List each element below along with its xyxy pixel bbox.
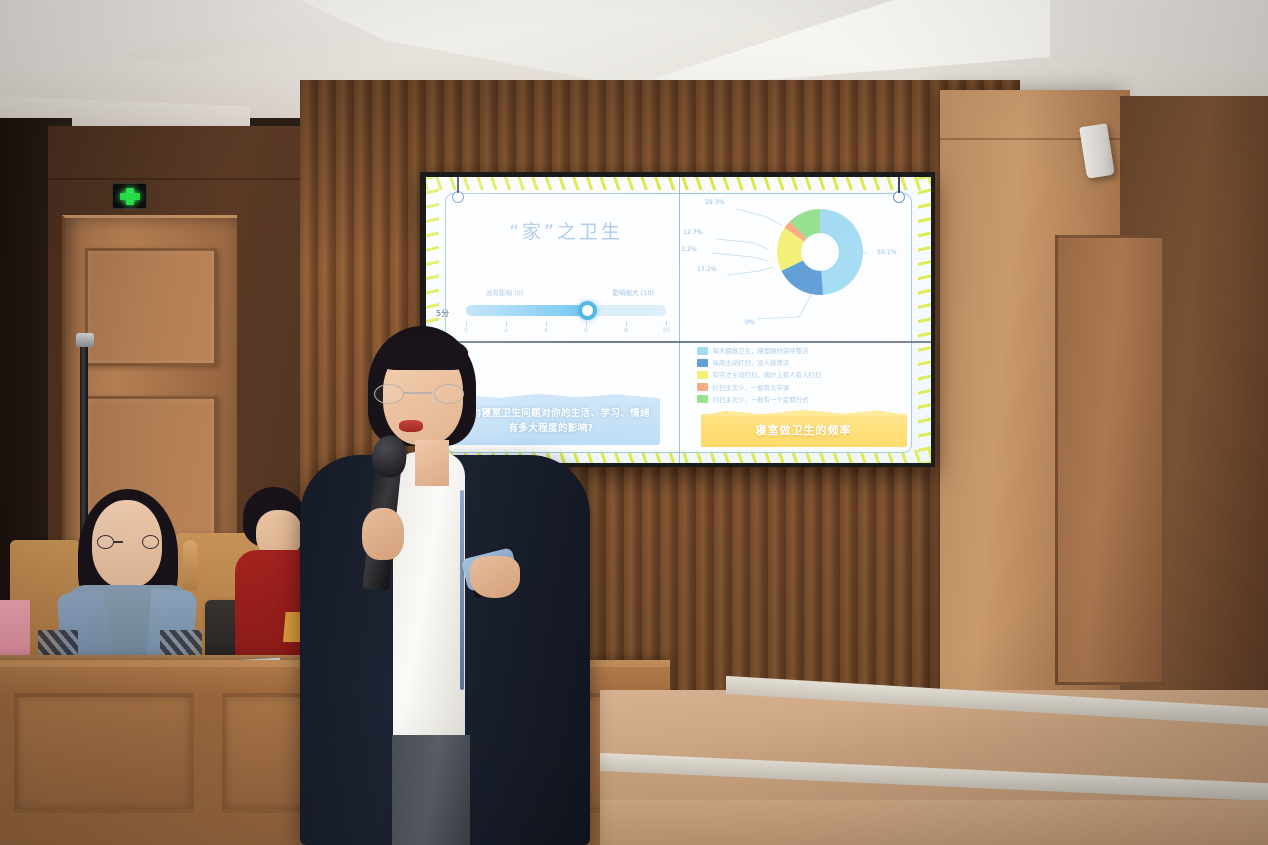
question-banner-text: 你认为寝室卫生问题对你的生活、学习、情绪有多大程度的影响? (448, 406, 654, 436)
fringe (380, 336, 468, 370)
donut-pct-label-4: 0% (745, 319, 755, 326)
slider-tick-scale: 0 2 4 6 8 10 (466, 321, 666, 337)
donut-pct-label-2: 3.2% (681, 246, 697, 253)
exit-sign (112, 183, 147, 209)
slide-right-panel: 19.3%12.7%3.2%17.2%0%50.1% 每天都做卫生，寝室随时保持… (679, 177, 932, 463)
slide-title: “家”之卫生 (466, 217, 666, 244)
chair-finial (183, 540, 197, 590)
legend-swatch-icon (697, 395, 708, 403)
slider-fill (466, 305, 590, 316)
legend-label: 打扫主次少，一般有大学课 (713, 383, 790, 392)
hand-holding-phone (470, 556, 520, 598)
glasses-icon (97, 535, 159, 551)
presentation-scene: “家”之卫生 没有影响 (0) 影响很大 (10) 5分 (0, 0, 1268, 845)
hand-holding-microphone (362, 508, 404, 560)
legend-row: 每周主动打扫，没人挑清洁 (697, 358, 927, 367)
glasses-icon (372, 384, 468, 404)
legend-label: 打扫主次少，一般有一个定期行式 (713, 395, 809, 404)
legend-row: 每天都做卫生，寝室随时保持整洁 (697, 346, 927, 355)
slider-knob[interactable] (578, 301, 597, 320)
chart-legend: 每天都做卫生，寝室随时保持整洁每周主动打扫，没人挑清洁有空才主动打扫，偶尔上有人… (697, 346, 927, 407)
slider-min-label: 没有影响 (0) (486, 287, 523, 297)
slider-tick-2: 4 (544, 327, 548, 334)
donut-pct-label-1: 12.7% (683, 229, 703, 236)
impact-slider-widget[interactable]: 没有影响 (0) 影响很大 (10) 5分 0 2 (444, 287, 676, 337)
donut-pct-label-0: 19.3% (705, 199, 725, 206)
donut-pct-label-5: 50.1% (877, 249, 897, 256)
legend-row: 有空才主动打扫，偶尔上有人有人打扫 (697, 370, 927, 379)
white-turtleneck (393, 452, 465, 742)
door-right[interactable] (1055, 235, 1165, 685)
slider-tick-3: 6 (584, 327, 588, 334)
slide-canvas: “家”之卫生 没有影响 (0) 影响很大 (10) 5分 (426, 177, 931, 463)
slider-tick-4: 8 (624, 327, 628, 334)
slider-tick-0: 0 (464, 327, 468, 334)
mouth (399, 420, 423, 432)
neck (415, 440, 449, 486)
legend-row: 打扫主次少，一般有大学课 (697, 383, 927, 392)
wall-display-screen[interactable]: “家”之卫生 没有影响 (0) 影响很大 (10) 5分 (420, 172, 935, 467)
frequency-banner-text: 寝室做卫生的频率 (756, 424, 852, 437)
legend-swatch-icon (697, 371, 708, 379)
floor-lower-level (600, 800, 1268, 845)
slider-tick-5: 10 (662, 327, 670, 334)
legend-swatch-icon (697, 383, 708, 391)
grey-jeans (392, 735, 470, 845)
legend-swatch-icon (697, 359, 708, 367)
legend-label: 有空才主动打扫，偶尔上有人有人打扫 (713, 370, 822, 379)
slider-tick-1: 2 (504, 327, 508, 334)
slider-track[interactable] (466, 305, 666, 316)
coat-drawstring (460, 490, 464, 690)
frequency-banner: 寝室做卫生的频率 (701, 414, 907, 447)
legend-swatch-icon (697, 347, 708, 355)
donut-chart-area: 19.3%12.7%3.2%17.2%0%50.1% (681, 191, 913, 339)
legend-label: 每周主动打扫，没人挑清洁 (713, 358, 790, 367)
donut-chart (777, 209, 863, 295)
donut-pct-label-3: 17.2% (697, 266, 717, 273)
slider-value-label: 5分 (436, 308, 449, 319)
green-cross-icon (120, 188, 140, 205)
legend-label: 每天都做卫生，寝室随时保持整洁 (713, 346, 809, 355)
legend-row: 打扫主次少，一般有一个定期行式 (697, 395, 927, 404)
slider-max-label: 影响很大 (10) (613, 287, 654, 297)
